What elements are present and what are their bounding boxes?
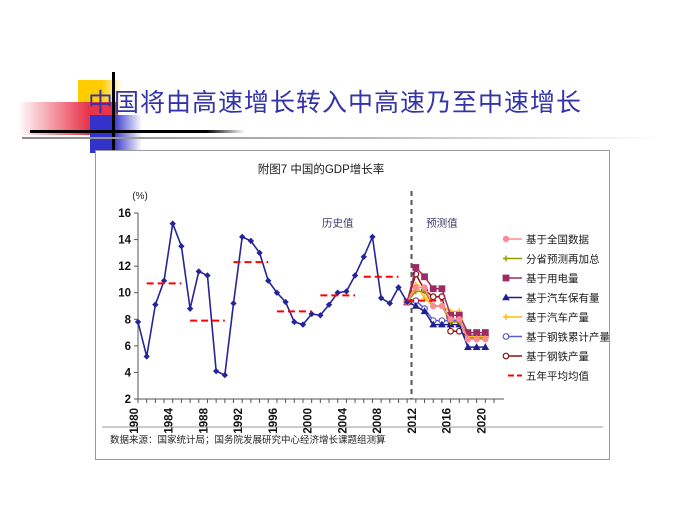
y-tick-label: 14 <box>118 235 131 247</box>
legend-item-0[interactable]: 基于全国数据 <box>503 233 589 246</box>
x-tick-label: 2000 <box>303 408 315 434</box>
data-point <box>214 369 219 374</box>
data-point <box>430 294 436 300</box>
x-tick-label: 2008 <box>372 407 384 433</box>
x-tick-label: 2012 <box>407 408 419 434</box>
legend-item-2[interactable]: 基于用电量 <box>503 272 579 285</box>
data-point <box>465 336 471 342</box>
legend-item-3[interactable]: 基于汽车保有量 <box>503 292 600 305</box>
data-point <box>222 372 227 377</box>
slide-title-block: 中国将由高速增长转入中高速乃至中速增长 <box>0 60 680 150</box>
data-point <box>503 334 509 340</box>
y-tick-label: 8 <box>125 314 132 326</box>
data-point <box>292 319 297 324</box>
legend-label: 分省预测再加总 <box>526 253 600 266</box>
legend-label: 五年平均均值 <box>526 370 589 383</box>
y-tick-label: 10 <box>118 288 131 300</box>
y-tick-label: 12 <box>118 261 131 273</box>
y-tick-label: 6 <box>125 341 131 353</box>
data-point <box>503 353 509 359</box>
data-point <box>413 285 419 291</box>
legend-item-4[interactable]: 基于汽车产量 <box>503 311 589 324</box>
data-point <box>474 336 480 342</box>
data-point <box>474 330 480 336</box>
data-point <box>179 244 184 249</box>
x-tick-label: 1992 <box>233 408 245 434</box>
legend-label: 基于用电量 <box>526 272 579 285</box>
series-line <box>407 274 485 336</box>
page-title: 中国将由高速增长转入中高速乃至中速增长 <box>88 83 668 119</box>
data-point <box>503 275 509 281</box>
data-point <box>422 285 428 291</box>
data-point <box>422 274 428 280</box>
legend-label: 基于全国数据 <box>526 233 589 246</box>
data-point <box>187 306 192 311</box>
legend-label: 基于钢铁累计产量 <box>526 331 609 344</box>
legend-label: 基于汽车产量 <box>526 311 589 324</box>
y-axis-unit-label: (%) <box>132 191 148 202</box>
data-point <box>240 234 245 239</box>
y-tick-label: 4 <box>125 367 132 379</box>
x-tick-label: 2004 <box>337 407 349 433</box>
data-point <box>439 286 445 292</box>
x-tick-label: 2020 <box>476 408 488 434</box>
x-tick-label: 2016 <box>442 408 454 434</box>
data-point <box>503 256 509 262</box>
series-history <box>135 221 409 378</box>
data-point <box>503 314 509 320</box>
data-point <box>448 316 454 322</box>
y-tick-label: 16 <box>118 208 131 220</box>
x-tick-label: 1984 <box>164 407 176 433</box>
data-point <box>448 328 454 334</box>
source-note: 数据来源：国家统计局；国务院发展研究中心经济增长课题组测算 <box>110 434 386 446</box>
data-point <box>231 301 236 306</box>
legend-item-1[interactable]: 分省预测再加总 <box>503 253 600 266</box>
legend-item-5[interactable]: 基于钢铁累计产量 <box>503 331 609 344</box>
decor-horizontal-rule <box>30 130 245 133</box>
data-point <box>144 354 149 359</box>
decor-blue-square <box>90 115 142 153</box>
series-line <box>138 224 407 375</box>
data-point <box>430 303 436 309</box>
chart-annotation-history: 历史值 <box>322 216 354 229</box>
data-point <box>361 254 366 259</box>
x-tick-label: 1996 <box>268 408 280 434</box>
data-point <box>170 221 175 226</box>
legend-item-6[interactable]: 基于钢铁产量 <box>503 350 589 363</box>
chart-container: 附图7 中国的GDP增长率(%)246810121416198019841988… <box>95 150 610 460</box>
legend-label: 基于钢铁产量 <box>526 350 589 363</box>
series-line <box>407 285 485 337</box>
data-point <box>370 234 375 239</box>
series-five-year-average <box>147 262 442 320</box>
data-point <box>439 303 445 309</box>
chart-title: 附图7 中国的GDP增长率 <box>258 162 385 176</box>
legend-label: 基于汽车保有量 <box>526 292 600 305</box>
data-point <box>196 269 201 274</box>
legend-item-7[interactable]: 五年平均均值 <box>508 370 589 383</box>
x-tick-label: 1988 <box>198 407 210 433</box>
title-underline <box>22 137 662 139</box>
chart-annotation-forecast: 预测值 <box>426 216 458 229</box>
x-tick-label: 1980 <box>129 408 141 434</box>
data-point <box>503 236 509 242</box>
data-point <box>456 316 462 322</box>
data-point <box>153 302 158 307</box>
data-point <box>413 264 419 270</box>
data-point <box>205 273 210 278</box>
gdp-growth-chart: 附图7 中国的GDP增长率(%)246810121416198019841988… <box>96 151 609 459</box>
y-tick-label: 2 <box>125 394 131 406</box>
data-point <box>483 336 489 342</box>
data-point <box>430 286 436 292</box>
data-point <box>135 319 140 324</box>
data-point <box>482 330 488 336</box>
